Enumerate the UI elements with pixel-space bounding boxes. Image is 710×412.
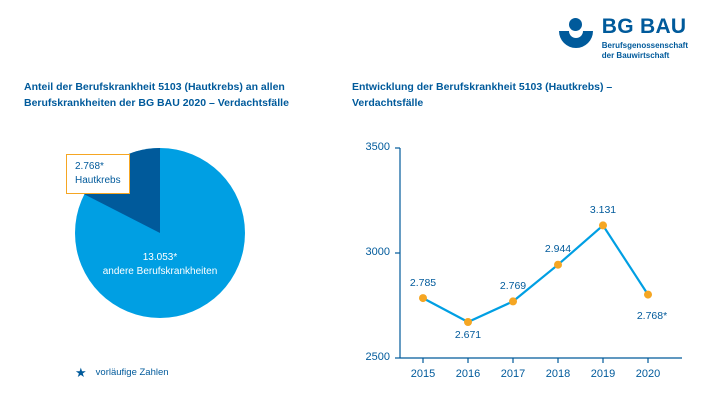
star-icon: ★ [75, 366, 87, 379]
data-point-marker [419, 294, 427, 302]
logo-title: BG BAU [602, 16, 688, 37]
data-label-2016: 2.671 [445, 329, 491, 341]
data-label-2018: 2.944 [535, 243, 581, 255]
logo-subtitle-line1: Berufsgenossenschaft [602, 41, 688, 51]
pie-callout-value: 2.768* [75, 160, 121, 174]
x-tick-label-2017: 2017 [490, 368, 536, 380]
logo-dot-shape [569, 18, 582, 31]
line-chart-svg [352, 140, 687, 388]
data-label-2017: 2.769 [490, 280, 536, 292]
bg-bau-logo-icon [559, 18, 593, 52]
logo-arc-shape [559, 31, 593, 48]
pie-inner-label: 13.053* andere Berufskrankheiten [85, 251, 235, 279]
pie-callout-box: 2.768* Hautkrebs [66, 154, 130, 194]
x-tick-label-2018: 2018 [535, 368, 581, 380]
pie-inner-value: 13.053* [85, 251, 235, 265]
pie-inner-text: andere Berufskrankheiten [85, 265, 235, 279]
data-label-2015: 2.785 [400, 277, 446, 289]
data-point-marker [509, 297, 517, 305]
pie-chart-title: Anteil der Berufskrankheit 5103 (Hautkre… [24, 80, 324, 112]
infographic-page: BG BAU Berufsgenossenschaft der Bauwirts… [0, 0, 710, 412]
logo-text-block: BG BAU Berufsgenossenschaft der Bauwirts… [602, 16, 688, 61]
logo-subtitle-line2: der Bauwirtschaft [602, 51, 688, 61]
pie-callout-label: Hautkrebs [75, 174, 121, 188]
x-tick-label-2015: 2015 [400, 368, 446, 380]
line-chart: 3500 3000 2500 2015 2016 2017 2018 2019 … [352, 140, 687, 388]
data-label-2020: 2.768* [624, 310, 680, 322]
data-point-marker [554, 261, 562, 269]
x-tick-label-2020: 2020 [625, 368, 671, 380]
data-point-marker [644, 291, 652, 299]
y-tick-label-3500: 3500 [350, 141, 390, 153]
bg-bau-logo: BG BAU Berufsgenossenschaft der Bauwirts… [559, 16, 688, 61]
footnote: ★ vorläufige Zahlen [75, 366, 169, 379]
pie-chart: 13.053* andere Berufskrankheiten 2.768* … [75, 148, 245, 318]
line-chart-title: Entwicklung der Berufskrankheit 5103 (Ha… [352, 80, 652, 112]
x-tick-label-2016: 2016 [445, 368, 491, 380]
data-line-series [423, 225, 648, 322]
x-tick-label-2019: 2019 [580, 368, 626, 380]
y-tick-label-3000: 3000 [350, 246, 390, 258]
logo-subtitle: Berufsgenossenschaft der Bauwirtschaft [602, 41, 688, 61]
footnote-text: vorläufige Zahlen [96, 367, 169, 378]
y-tick-label-2500: 2500 [350, 351, 390, 363]
data-point-marker [464, 318, 472, 326]
data-label-2019: 3.131 [580, 204, 626, 216]
data-point-marker [599, 221, 607, 229]
